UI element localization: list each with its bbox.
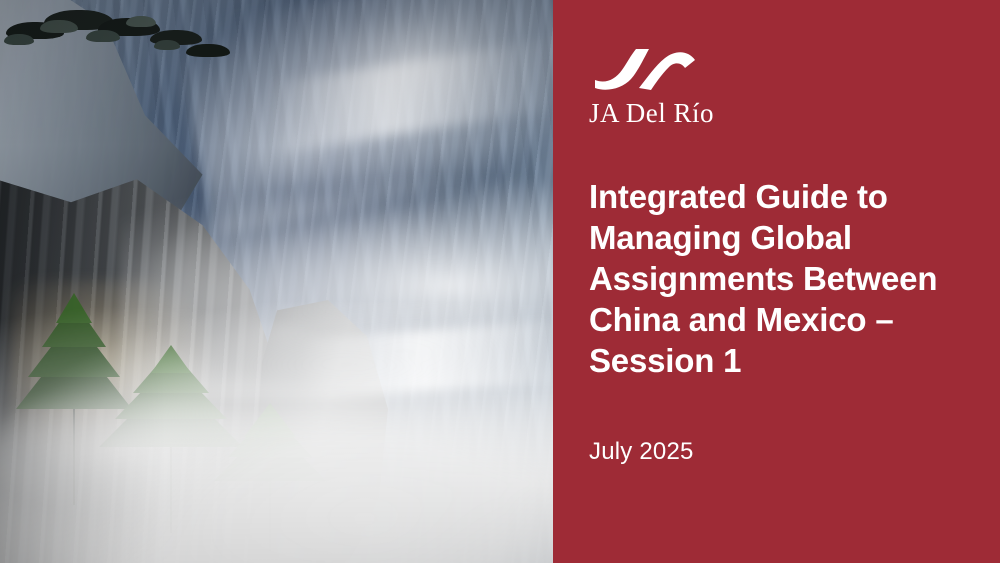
distant-tree: [4, 34, 34, 45]
title-slide: JA Del Río Integrated Guide to Managing …: [0, 0, 1000, 563]
jr-monogram-logo-icon: [589, 44, 701, 92]
distant-tree: [86, 30, 120, 42]
mountain-landscape-photo: [0, 0, 553, 563]
page-title: Integrated Guide to Managing Global Assi…: [589, 176, 949, 381]
distant-tree: [126, 16, 156, 27]
sea-of-clouds: [0, 303, 553, 563]
distant-tree: [40, 20, 78, 33]
pine-canopy: [186, 44, 230, 57]
presentation-date: July 2025: [589, 438, 694, 466]
content-panel: JA Del Río Integrated Guide to Managing …: [553, 0, 1000, 563]
distant-tree: [154, 40, 180, 50]
brand-logo: JA Del Río: [589, 44, 714, 129]
brand-wordmark: JA Del Río: [589, 98, 714, 129]
